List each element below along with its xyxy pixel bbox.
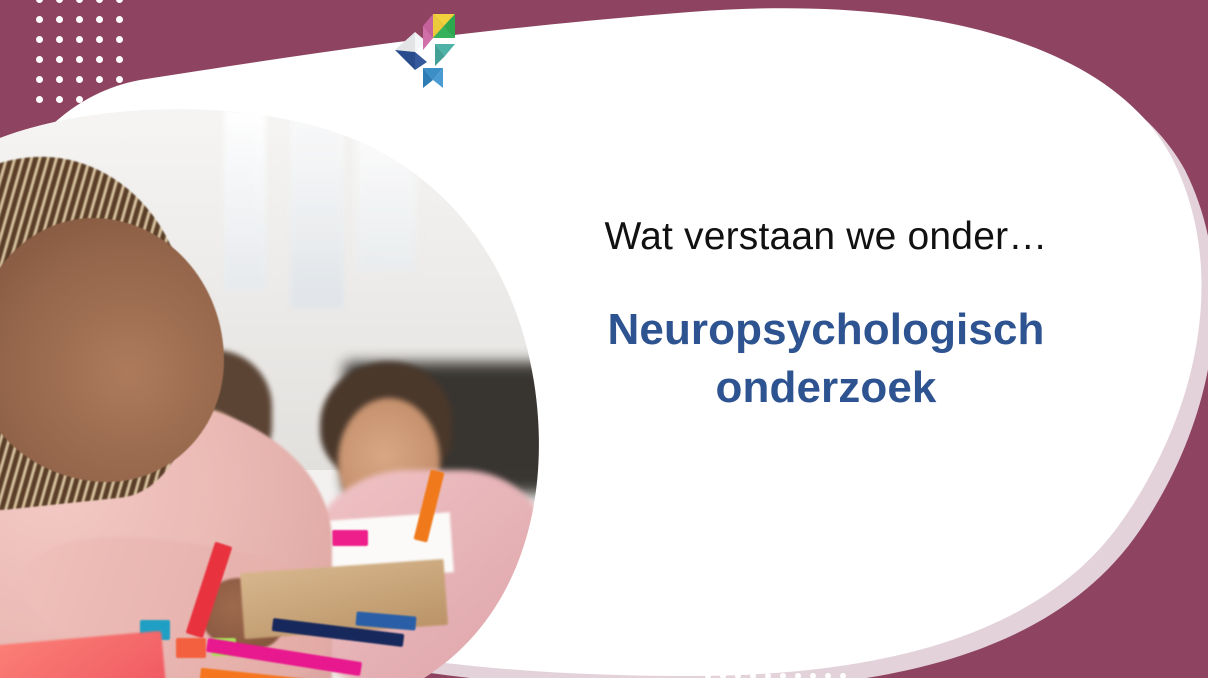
photo-eraser-pink xyxy=(332,530,368,546)
decorative-dot xyxy=(56,0,63,3)
decorative-dot xyxy=(720,673,726,678)
kenniscentrum-k-hexagon-logo-icon xyxy=(393,10,471,92)
decorative-dot xyxy=(56,76,63,83)
decorative-dot xyxy=(96,16,103,23)
decorative-dot xyxy=(36,76,43,83)
decorative-dot xyxy=(705,643,711,649)
decorative-dot xyxy=(795,673,801,678)
decorative-dot xyxy=(750,628,756,634)
decorative-dot xyxy=(735,613,741,619)
decorative-dot xyxy=(36,36,43,43)
decorative-dot xyxy=(765,643,771,649)
decorative-dot xyxy=(116,0,123,3)
photo-eraser-red xyxy=(176,638,206,658)
decorative-dot xyxy=(735,658,741,664)
decorative-dot xyxy=(750,613,756,619)
decorative-dot xyxy=(36,16,43,23)
decorative-dot xyxy=(795,613,801,619)
decorative-dot xyxy=(840,673,846,678)
decorative-dot xyxy=(780,643,786,649)
decorative-dot xyxy=(56,16,63,23)
brand-logo-text: KENNISCENTRUM HOOGBEGAAFDHEID xyxy=(481,31,699,72)
decorative-dot xyxy=(735,628,741,634)
decorative-dot xyxy=(765,628,771,634)
decorative-dot xyxy=(810,673,816,678)
decorative-dot xyxy=(765,673,771,678)
decorative-dot xyxy=(750,643,756,649)
decorative-dot xyxy=(76,96,83,103)
decorative-dot xyxy=(76,56,83,63)
decorative-dot xyxy=(56,96,63,103)
decorative-dot xyxy=(705,613,711,619)
decorative-dot xyxy=(810,628,816,634)
decorative-dot xyxy=(116,56,123,63)
decorative-dot xyxy=(780,613,786,619)
decorative-dot xyxy=(36,96,43,103)
decorative-dot xyxy=(36,0,43,3)
decorative-dot xyxy=(825,673,831,678)
decorative-dot xyxy=(116,16,123,23)
decorative-dot xyxy=(795,658,801,664)
photo-window-left xyxy=(224,110,266,290)
decorative-dot xyxy=(840,658,846,664)
decorative-dot xyxy=(825,628,831,634)
decorative-dot xyxy=(825,658,831,664)
brand-logo-line1: KENNISCENTRUM xyxy=(481,31,699,50)
decorative-dot xyxy=(705,628,711,634)
decorative-dot xyxy=(780,673,786,678)
decorative-dot xyxy=(36,56,43,63)
decorative-dot xyxy=(96,36,103,43)
decorative-dot xyxy=(795,643,801,649)
decorative-dot xyxy=(750,673,756,678)
decorative-dot xyxy=(76,36,83,43)
photo-window-middle xyxy=(290,104,344,308)
presentation-slide: KENNISCENTRUM HOOGBEGAAFDHEID Wat versta… xyxy=(0,0,1208,678)
brand-logo: KENNISCENTRUM HOOGBEGAAFDHEID xyxy=(393,10,699,92)
decorative-dot xyxy=(810,613,816,619)
decorative-dot xyxy=(810,643,816,649)
decorative-dot xyxy=(840,628,846,634)
decorative-dot xyxy=(705,673,711,678)
decorative-dot xyxy=(825,643,831,649)
decorative-dot xyxy=(720,643,726,649)
decorative-dot xyxy=(76,0,83,3)
decorative-dot xyxy=(96,56,103,63)
decorative-dot xyxy=(720,658,726,664)
brand-logo-line2: HOOGBEGAAFDHEID xyxy=(481,49,699,71)
decorative-dot xyxy=(765,613,771,619)
decorative-dot xyxy=(780,628,786,634)
decorative-dot xyxy=(116,36,123,43)
decorative-dot xyxy=(96,76,103,83)
decorative-dot xyxy=(780,658,786,664)
decorative-dot xyxy=(720,613,726,619)
decorative-dot xyxy=(750,658,756,664)
decorative-dot xyxy=(56,36,63,43)
decorative-dot xyxy=(76,76,83,83)
decorative-dot xyxy=(825,613,831,619)
decorative-dot xyxy=(810,658,816,664)
decorative-dot xyxy=(56,56,63,63)
decorative-dot xyxy=(795,628,801,634)
decorative-dot xyxy=(840,613,846,619)
decorative-dot xyxy=(705,658,711,664)
decorative-dot xyxy=(96,0,103,3)
decorative-dot xyxy=(765,658,771,664)
decorative-dot xyxy=(720,628,726,634)
decorative-dot-grid-bottom xyxy=(700,608,850,678)
decorative-dot xyxy=(735,643,741,649)
decorative-dot xyxy=(76,16,83,23)
decorative-dot xyxy=(840,643,846,649)
slide-title: Neuropsychologisch onderzoek xyxy=(540,301,1112,417)
slide-eyebrow: Wat verstaan we onder… xyxy=(540,215,1112,259)
decorative-dot xyxy=(116,76,123,83)
decorative-dot xyxy=(735,673,741,678)
slide-text-block: Wat verstaan we onder… Neuropsychologisc… xyxy=(540,215,1112,417)
